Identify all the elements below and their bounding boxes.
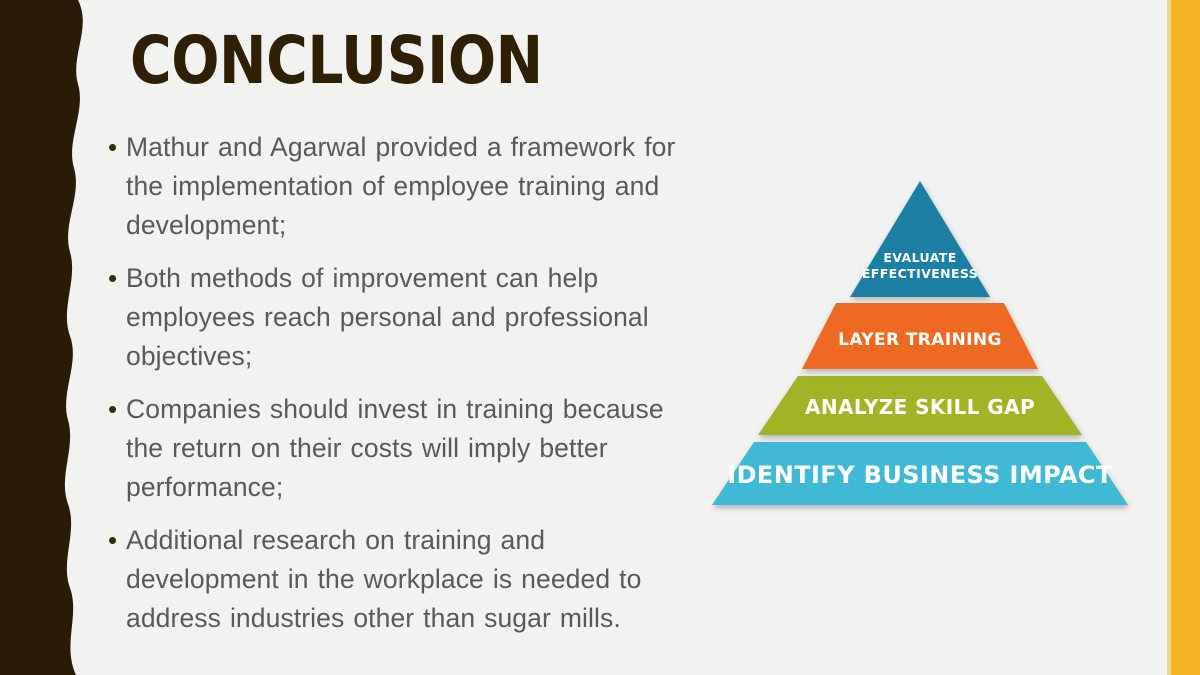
pyramid-level-4-label: IDENTIFY BUSINESS IMPACT	[727, 461, 1113, 489]
pyramid-svg: IDENTIFY BUSINESS IMPACT ANALYZE SKILL G…	[690, 165, 1150, 525]
bullet-text: Additional research on training and deve…	[126, 521, 696, 638]
bullet-list: • Mathur and Agarwal provided a framewor…	[106, 128, 696, 652]
bullet-marker-icon: •	[106, 521, 126, 560]
pyramid-level-1-label-line1: EVALUATE	[883, 250, 956, 265]
pyramid-level-4: IDENTIFY BUSINESS IMPACT	[712, 442, 1128, 505]
right-accent-strip	[1171, 0, 1200, 675]
training-pyramid-diagram: IDENTIFY BUSINESS IMPACT ANALYZE SKILL G…	[690, 165, 1150, 525]
pyramid-level-3: ANALYZE SKILL GAP	[758, 376, 1082, 435]
bullet-text: Both methods of improvement can help emp…	[126, 259, 696, 376]
bullet-text: Companies should invest in training beca…	[126, 390, 696, 507]
pyramid-level-1-label-line2: EFFECTIVENESS	[862, 266, 978, 281]
left-decorative-border	[0, 0, 100, 675]
wavy-band-shape	[0, 0, 100, 675]
bullet-marker-icon: •	[106, 259, 126, 298]
pyramid-level-3-label: ANALYZE SKILL GAP	[805, 395, 1035, 419]
list-item: • Additional research on training and de…	[106, 521, 696, 638]
bullet-marker-icon: •	[106, 390, 126, 429]
pyramid-level-2-label: LAYER TRAINING	[838, 330, 1002, 350]
pyramid-level-2: LAYER TRAINING	[802, 303, 1038, 369]
list-item: • Companies should invest in training be…	[106, 390, 696, 507]
slide-body: CONCLUSION • Mathur and Agarwal provided…	[0, 0, 1200, 675]
pyramid-level-1: EVALUATE EFFECTIVENESS	[850, 181, 990, 297]
bullet-marker-icon: •	[106, 128, 126, 167]
list-item: • Mathur and Agarwal provided a framewor…	[106, 128, 696, 245]
list-item: • Both methods of improvement can help e…	[106, 259, 696, 376]
bullet-text: Mathur and Agarwal provided a framework …	[126, 128, 696, 245]
page-title: CONCLUSION	[130, 28, 543, 94]
